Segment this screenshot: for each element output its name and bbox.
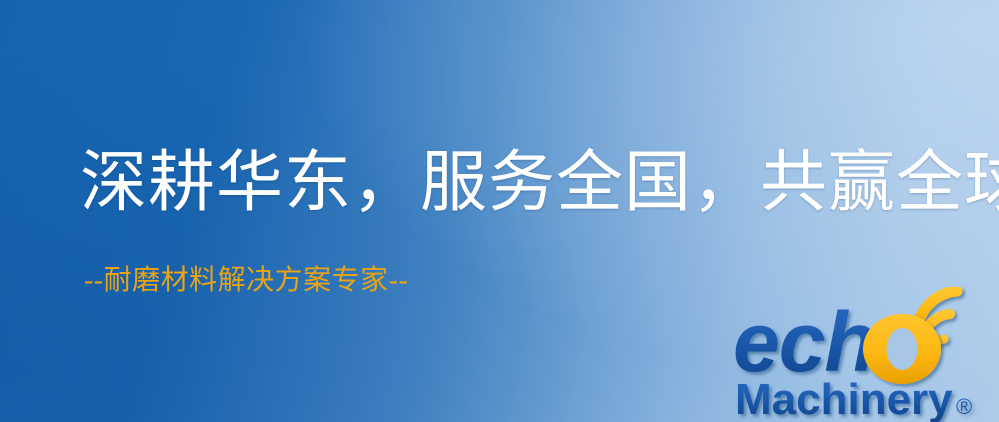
promo-banner: 深耕华东，服务全国，共赢全球 --耐磨材料解决方案专家-- xyxy=(0,0,999,422)
svg-text:®: ® xyxy=(956,394,972,419)
banner-subtitle: --耐磨材料解决方案专家-- xyxy=(84,266,408,297)
company-logo[interactable]: ech Machinery ® xyxy=(731,287,993,422)
logo-tagline: Machinery ® xyxy=(735,375,972,422)
logo-wordmark-o xyxy=(863,314,941,384)
page-title: 深耕华东，服务全国，共赢全球 xyxy=(80,148,999,218)
svg-text:Machinery: Machinery xyxy=(735,375,953,422)
